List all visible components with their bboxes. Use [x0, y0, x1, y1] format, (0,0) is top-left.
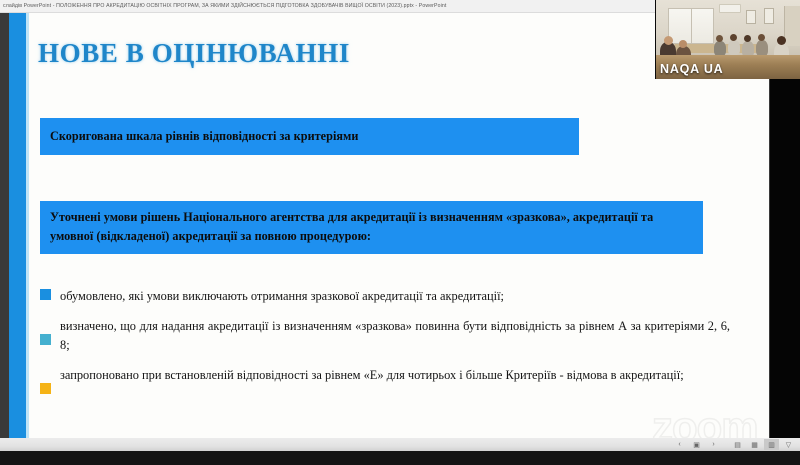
bullet-square-icon [40, 383, 51, 394]
next-slide-icon[interactable]: › [706, 439, 721, 450]
bullet-square-icon [40, 289, 51, 300]
banner-specified-conditions: Уточнені умови рішень Національного аген… [40, 201, 703, 254]
list-item: обумовлено, які умови виключають отриман… [40, 287, 730, 306]
room-door [784, 6, 800, 46]
view-mode-group: ▤ ▦ ▥ ▽ [730, 439, 796, 450]
webcam-participant-name: NAQA UA [660, 62, 723, 76]
list-item: визначено, що для надання акредитації із… [40, 317, 730, 355]
list-item-label: обумовлено, які умови виключають отриман… [60, 287, 730, 306]
wall-picture [764, 8, 774, 24]
participant-head [679, 40, 687, 48]
banner-corrected-scale-text: Скоригована шкала рівнів відповідності з… [50, 127, 358, 146]
bullet-list: обумовлено, які умови виключають отриман… [40, 287, 730, 405]
webcam-pip-panel[interactable]: NAQA UA [655, 0, 800, 79]
bottom-bar: ‹ ▣ › ▤ ▦ ▥ ▽ [0, 438, 800, 465]
participant-head [716, 35, 723, 42]
banner-corrected-scale: Скоригована шкала рівнів відповідності з… [40, 118, 579, 155]
participant [756, 40, 768, 56]
previous-slide-icon[interactable]: ‹ [672, 439, 687, 450]
screen-right-black-band [770, 79, 800, 438]
participant-head [730, 34, 737, 41]
participant [714, 41, 726, 56]
participant-head [744, 35, 751, 42]
reading-view-icon[interactable]: ▥ [764, 439, 779, 450]
window-title-text: слайдів PowerPoint - ПОЛОЖЕННЯ ПРО АКРЕД… [0, 3, 446, 9]
slide-accent-bar-highlight [26, 13, 29, 438]
bullet-square-icon [40, 334, 51, 345]
list-item-label: запропоновано при встановленій відповідн… [60, 366, 730, 385]
list-item: запропоновано при встановленій відповідн… [40, 366, 730, 394]
banner-specified-conditions-text: Уточнені умови рішень Національного аген… [50, 208, 693, 246]
air-conditioner [719, 4, 741, 13]
participant-head [664, 36, 673, 45]
list-item-label: визначено, що для надання акредитації із… [60, 317, 730, 355]
participant-head [758, 34, 765, 41]
room-window [668, 8, 714, 44]
wall-picture [746, 10, 756, 24]
slide-sorter-view-icon[interactable]: ▦ [747, 439, 762, 450]
slide-thumbnail-icon[interactable]: ▣ [689, 439, 704, 450]
slide-accent-bar [9, 13, 26, 438]
participant [728, 40, 740, 55]
powerpoint-statusbar: ‹ ▣ › ▤ ▦ ▥ ▽ [0, 438, 800, 451]
zoom-screen-share: слайдів PowerPoint - ПОЛОЖЕННЯ ПРО АКРЕД… [0, 0, 800, 465]
normal-view-icon[interactable]: ▤ [730, 439, 745, 450]
slide-show-view-icon[interactable]: ▽ [781, 439, 796, 450]
slide-title: НОВЕ В ОЦІНЮВАННІ [38, 38, 350, 69]
slide-navigation-group: ‹ ▣ › [672, 439, 721, 450]
zoom-watermark: zoom [652, 406, 758, 438]
participant-head [777, 36, 786, 45]
